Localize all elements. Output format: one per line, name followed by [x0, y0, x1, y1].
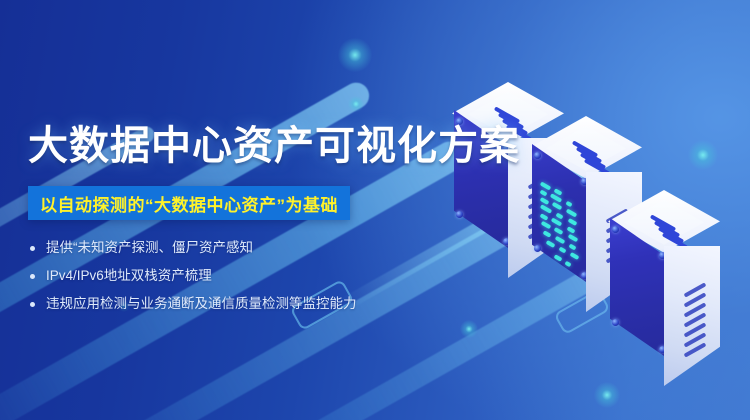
bullet-dot-icon [30, 274, 35, 279]
banner-title: 大数据中心资产可视化方案 [28, 122, 520, 170]
bullet-label: 提供“未知资产探测、僵尸资产感知 [46, 234, 253, 262]
banner-text-column: 大数据中心资产可视化方案 以自动探测的“大数据中心资产”为基础 提供“未知资产探… [0, 0, 430, 420]
rack1-screw-bl [456, 211, 463, 218]
list-item: 违规应用检测与业务通断及通信质量检测等监控能力 [30, 290, 410, 318]
banner-subtitle-text: 以自动探测的“大数据中心资产”为基础 [40, 191, 338, 216]
rack3-side-panel [664, 246, 720, 386]
banner-subtitle-band: 以自动探测的“大数据中心资产”为基础 [28, 186, 350, 220]
rack3-screw-bl [612, 319, 619, 326]
list-item: 提供“未知资产探测、僵尸资产感知 [30, 234, 410, 262]
bullet-dot-icon [30, 302, 35, 307]
list-item: IPv4/IPv6地址双栈资产梳理 [30, 262, 410, 290]
bullet-dot-icon [30, 246, 35, 251]
feature-bullet-list: 提供“未知资产探测、僵尸资产感知 IPv4/IPv6地址双栈资产梳理 违规应用检… [30, 234, 410, 318]
bullet-label: IPv4/IPv6地址双栈资产梳理 [46, 262, 212, 290]
promo-banner: 大数据中心资产可视化方案 以自动探测的“大数据中心资产”为基础 提供“未知资产探… [0, 0, 750, 420]
rack3-screw-tl [612, 226, 619, 233]
bullet-label: 违规应用检测与业务通断及通信质量检测等监控能力 [46, 290, 357, 318]
